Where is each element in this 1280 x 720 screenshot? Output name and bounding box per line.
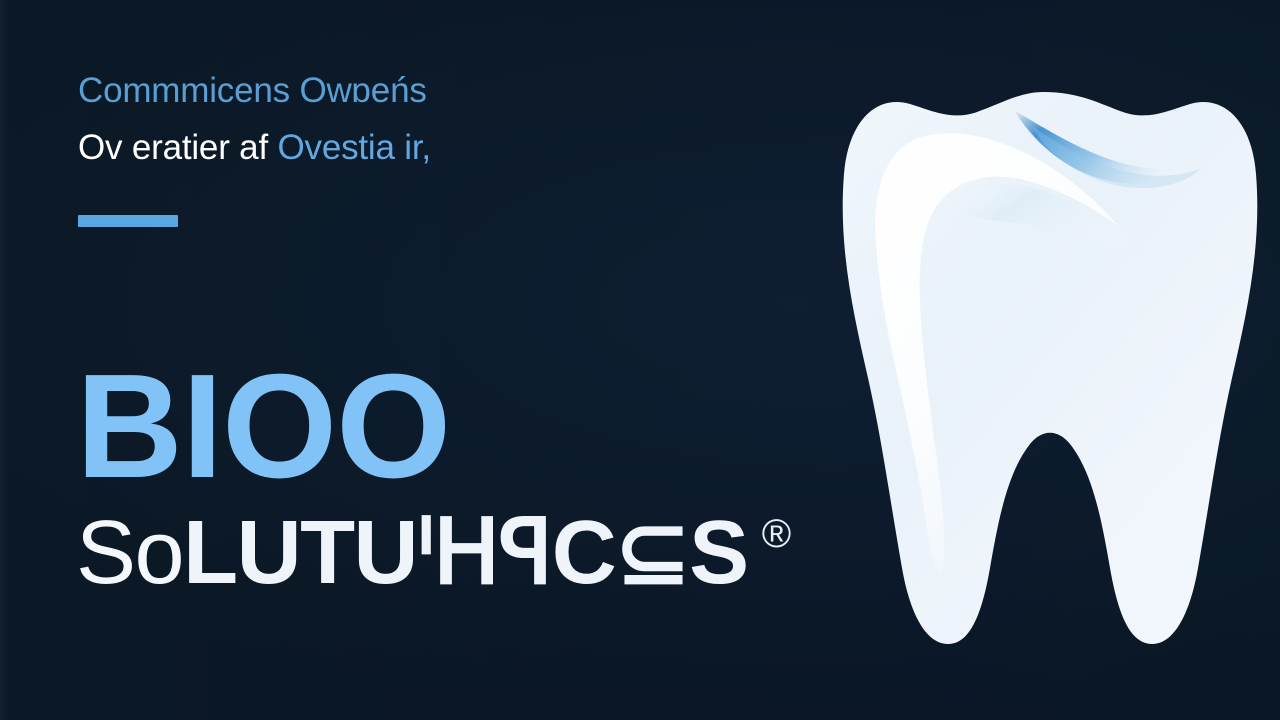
tagline-line-2-plain: Ov eratier af: [78, 128, 278, 167]
accent-rule: [78, 215, 178, 227]
tagline-line-2-emphasis: Ovestia ir,: [278, 128, 431, 167]
brand-lockup: BIOO SoLUTUᑊᕼꟼC⊆S ®: [76, 352, 896, 600]
brand-secondary-part-2: LUTUᑊᕼꟼC⊆S: [183, 506, 748, 600]
brand-primary-wordmark: BIOO: [76, 352, 896, 502]
brand-secondary-wordmark: SoLUTUᑊᕼꟼC⊆S ®: [76, 506, 896, 600]
registered-trademark-icon: ®: [762, 512, 791, 556]
tooth-illustration: [818, 48, 1268, 688]
poster-canvas: Commmicens Owɒeńs Ov eratier af Ovestia …: [0, 0, 1280, 720]
tagline-line-2: Ov eratier af Ovestia ir,: [78, 119, 778, 176]
tagline-block: Commmicens Owɒeńs Ov eratier af Ovestia …: [78, 62, 778, 176]
tooth-icon: [818, 48, 1268, 688]
tagline-line-1: Commmicens Owɒeńs: [78, 62, 778, 119]
brand-secondary-part-1: So: [76, 506, 183, 600]
